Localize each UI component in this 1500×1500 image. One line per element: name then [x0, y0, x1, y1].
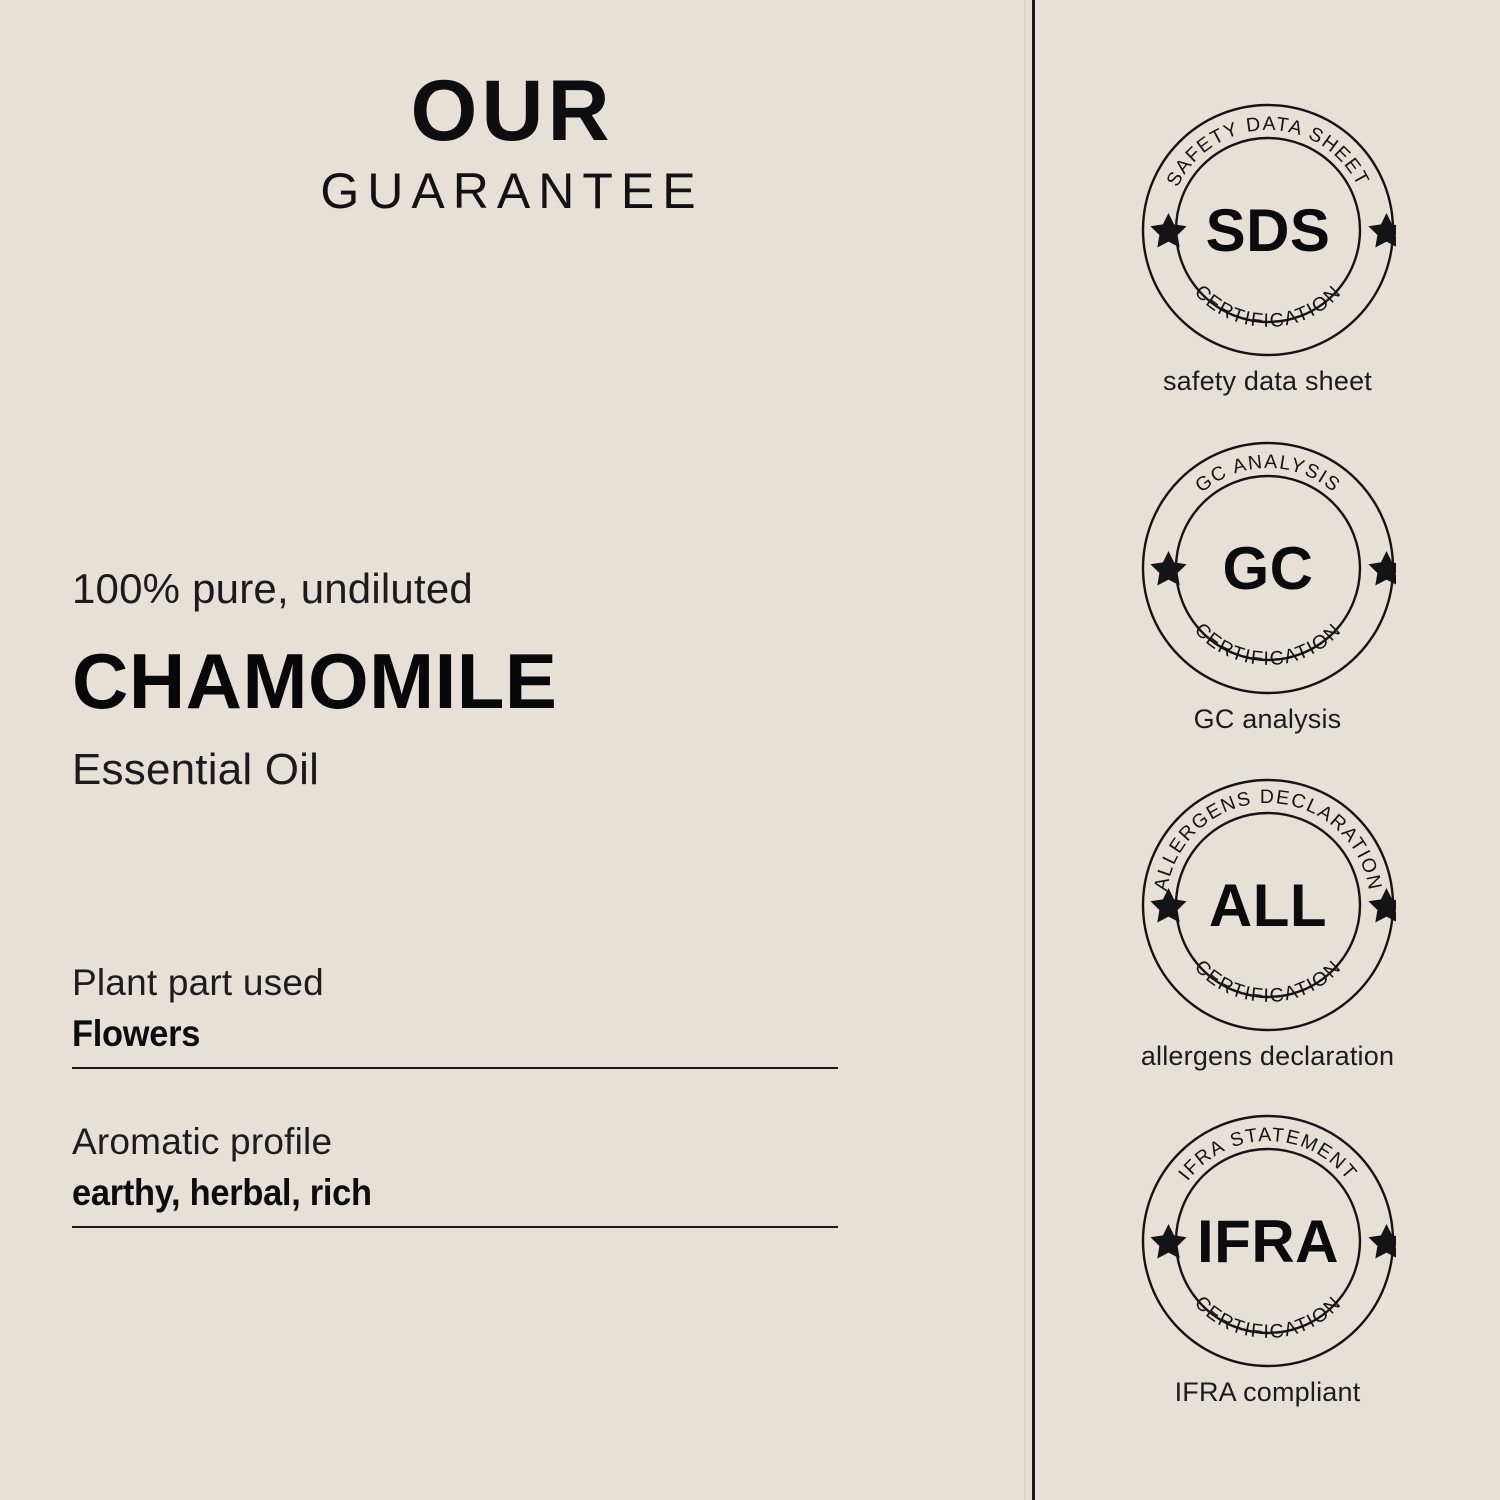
seal-bottom-text: CERTIFICATION	[1190, 1292, 1346, 1343]
page-title-line-our: OUR	[0, 68, 1024, 154]
certification-badge-ifra: IFRA STATEMENT CERTIFICATION IFRA IFRA c…	[1035, 1113, 1500, 1408]
certification-badge-gc: GC ANALYSIS CERTIFICATION GC GC analysis	[1035, 440, 1500, 735]
seal-abbreviation: ALL	[1208, 872, 1326, 939]
guarantee-panel: OUR GUARANTEE 100% pure, undiluted CHAMO…	[0, 0, 1024, 1500]
certification-badges-panel: SAFETY DATA SHEET CERTIFICATION SDS safe…	[1035, 0, 1500, 1500]
product-attributes: Plant part used Flowers Aromatic profile…	[72, 962, 838, 1228]
seal-bottom-text: CERTIFICATION	[1190, 956, 1346, 1007]
certification-badge-sds: SAFETY DATA SHEET CERTIFICATION SDS safe…	[1035, 102, 1500, 397]
star-icon-left	[1150, 888, 1186, 923]
star-icon-left	[1150, 551, 1186, 586]
attribute-value: Flowers	[72, 1013, 784, 1056]
page-title-line-guarantee: GUARANTEE	[0, 166, 1024, 216]
product-type: Essential Oil	[72, 746, 872, 794]
seal-icon: SAFETY DATA SHEET CERTIFICATION SDS	[1140, 102, 1396, 358]
seal-icon: IFRA STATEMENT CERTIFICATION IFRA	[1140, 1113, 1396, 1369]
attribute-row: Aromatic profile earthy, herbal, rich	[72, 1121, 838, 1228]
star-icon-left	[1150, 1224, 1186, 1259]
badge-caption: safety data sheet	[1035, 366, 1500, 397]
badge-caption: GC analysis	[1035, 704, 1500, 735]
seal-top-text: GC ANALYSIS	[1191, 451, 1345, 497]
panel-divider-highlight	[1024, 0, 1026, 1500]
page-title: OUR GUARANTEE	[0, 68, 1024, 216]
seal-icon: ALLERGENS DECLARATION CERTIFICATION ALL	[1140, 777, 1396, 1033]
seal-abbreviation: IFRA	[1197, 1208, 1339, 1275]
badge-caption: IFRA compliant	[1035, 1377, 1500, 1408]
attribute-label: Plant part used	[72, 962, 838, 1005]
badge-caption: allergens declaration	[1035, 1041, 1500, 1072]
product-name: CHAMOMILE	[72, 642, 872, 720]
seal-abbreviation: SDS	[1205, 197, 1330, 264]
attribute-value: earthy, herbal, rich	[72, 1172, 784, 1215]
attribute-row: Plant part used Flowers	[72, 962, 838, 1069]
seal-top-text: SAFETY DATA SHEET	[1162, 113, 1374, 190]
attribute-divider	[72, 1226, 838, 1228]
attribute-label: Aromatic profile	[72, 1121, 838, 1164]
seal-abbreviation: GC	[1222, 535, 1313, 602]
seal-icon: GC ANALYSIS CERTIFICATION GC	[1140, 440, 1396, 696]
product-identity: 100% pure, undiluted CHAMOMILE Essential…	[72, 566, 872, 795]
product-purity-text: 100% pure, undiluted	[72, 566, 872, 612]
seal-bottom-text: CERTIFICATION	[1190, 619, 1346, 670]
certification-badge-allergens: ALLERGENS DECLARATION CERTIFICATION ALL …	[1035, 777, 1500, 1072]
star-icon-left	[1150, 213, 1186, 248]
seal-bottom-text: CERTIFICATION	[1190, 281, 1346, 332]
attribute-divider	[72, 1067, 838, 1069]
